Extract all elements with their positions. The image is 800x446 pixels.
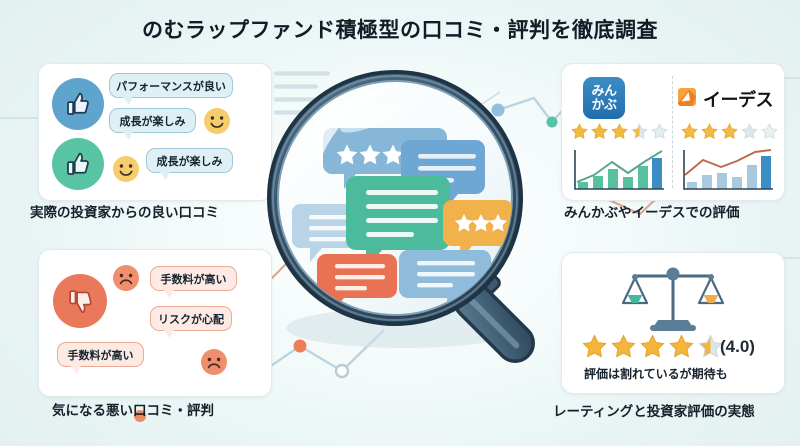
star-half-icon bbox=[630, 122, 649, 141]
chart-axis bbox=[684, 150, 773, 189]
overall-star-rating bbox=[581, 333, 724, 360]
overall-rating-value: (4.0) bbox=[720, 337, 755, 357]
star-empty-icon bbox=[740, 122, 759, 141]
panel-negative-reviews: 手数料が高い リスクが心配 手数料が高い bbox=[38, 249, 272, 397]
star-full-icon bbox=[700, 122, 719, 141]
page-title: のむラップファンド積極型の口コミ・評判を徹底調査 bbox=[0, 14, 800, 44]
bubble-text: パフォーマンスが良い bbox=[116, 78, 226, 94]
frowny-face-icon-2 bbox=[200, 348, 228, 376]
star-full-icon bbox=[668, 333, 695, 360]
negative-review-bubble-3: 手数料が高い bbox=[57, 342, 144, 367]
minkabu-mini-chart bbox=[572, 148, 664, 192]
edess-mini-chart bbox=[681, 148, 773, 192]
panel-rating-sources: みん かぶ イーデス bbox=[561, 63, 785, 201]
star-full-icon bbox=[639, 333, 666, 360]
minkabu-logo-line2: かぶ bbox=[591, 98, 616, 112]
chart-bars bbox=[687, 156, 771, 189]
negative-review-bubble-1: 手数料が高い bbox=[150, 266, 237, 291]
edess-logo-icon bbox=[675, 85, 699, 109]
star-full-icon bbox=[680, 122, 699, 141]
negative-review-bubble-2: リスクが心配 bbox=[150, 306, 232, 331]
star-full-icon bbox=[610, 122, 629, 141]
bubble-text: リスクが心配 bbox=[158, 311, 224, 327]
positive-review-bubble-3: 成長が楽しみ bbox=[146, 148, 233, 173]
panel-overall-rating-caption: レーティングと投資家評価の実態 bbox=[553, 400, 755, 420]
bubble-text: 手数料が高い bbox=[161, 271, 227, 287]
minkabu-star-rating bbox=[570, 122, 669, 141]
edess-star-rating bbox=[680, 122, 779, 141]
chart-trend-line bbox=[577, 151, 662, 182]
overall-rating-note: 評価は割れているが期待も bbox=[584, 365, 728, 382]
minkabu-logo-icon: みん かぶ bbox=[583, 77, 625, 119]
bubble-text: 成長が楽しみ bbox=[157, 153, 223, 169]
star-full-icon bbox=[570, 122, 589, 141]
frowny-face-icon-1 bbox=[112, 264, 140, 292]
star-full-icon bbox=[581, 333, 608, 360]
smiley-face-icon-2 bbox=[112, 155, 140, 183]
source-divider bbox=[672, 76, 673, 188]
star-full-icon bbox=[720, 122, 739, 141]
minkabu-logo-line1: みん bbox=[591, 84, 616, 98]
positive-review-bubble-1: パフォーマンスが良い bbox=[109, 73, 233, 98]
balance-scale-icon bbox=[619, 261, 727, 333]
star-full-icon bbox=[610, 333, 637, 360]
star-empty-icon bbox=[650, 122, 669, 141]
thumbs-up-blue-icon bbox=[52, 78, 104, 130]
panel-positive-reviews-caption: 実際の投資家からの良い口コミ bbox=[30, 201, 219, 221]
thumbs-up-green-icon bbox=[52, 138, 104, 190]
edess-logo-text: イーデス bbox=[703, 86, 773, 112]
positive-review-bubble-2: 成長が楽しみ bbox=[109, 108, 196, 133]
bubble-text: 成長が楽しみ bbox=[120, 113, 186, 129]
chart-bars bbox=[578, 158, 662, 189]
panel-overall-rating: (4.0) 評価は割れているが期待も bbox=[561, 252, 785, 394]
chart-trend-line bbox=[685, 150, 771, 175]
infographic-canvas: のむラップファンド積極型の口コミ・評判を徹底調査 bbox=[0, 0, 800, 446]
chart-axis bbox=[575, 150, 664, 189]
panel-rating-sources-caption: みんかぶやイーデスでの評価 bbox=[564, 201, 740, 221]
star-empty-icon bbox=[760, 122, 779, 141]
smiley-face-icon-1 bbox=[203, 107, 231, 135]
magnifying-glass-icon bbox=[252, 58, 562, 368]
panel-negative-reviews-caption: 気になる悪い口コミ・評判 bbox=[52, 399, 214, 419]
panel-positive-reviews: パフォーマンスが良い 成長が楽しみ 成長が楽しみ bbox=[38, 63, 272, 201]
bubble-text: 手数料が高い bbox=[68, 347, 134, 363]
star-full-icon bbox=[590, 122, 609, 141]
thumbs-down-orange-icon bbox=[53, 274, 107, 328]
